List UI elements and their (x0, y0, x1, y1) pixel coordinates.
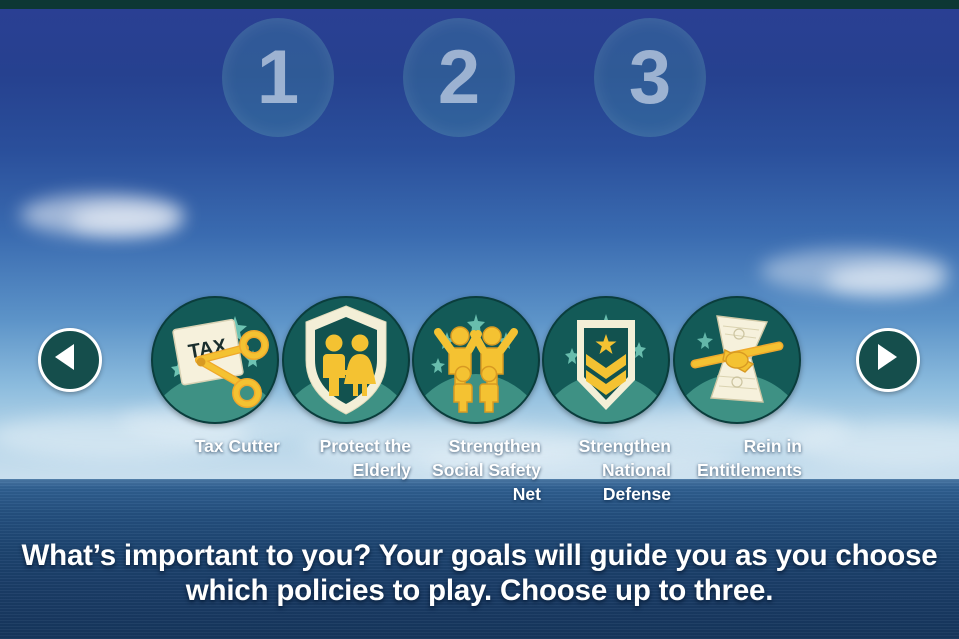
goal-card-tax-cutter[interactable]: TAX T (150, 296, 280, 458)
cloud (20, 194, 185, 236)
carousel-next-button[interactable] (856, 328, 920, 392)
arrow-right-icon (859, 331, 911, 383)
tax-scissors-icon: TAX (153, 298, 277, 422)
goal-slot-1[interactable]: 1 (222, 18, 334, 137)
game-screen: 1 2 3 (0, 0, 959, 639)
goal-card-rein-in-entitlements[interactable]: Rein in Entitlements (672, 296, 802, 482)
shield-elderly-icon (284, 298, 408, 422)
goal-badge (412, 296, 540, 424)
goal-label: Protect the Elderly (281, 434, 411, 482)
goal-slot-3-number: 3 (629, 40, 671, 116)
cloud (70, 205, 180, 235)
instruction-caption: What’s important to you? Your goals will… (0, 538, 959, 609)
goal-card-strengthen-national-defense[interactable]: Strengthen National Defense (541, 296, 671, 506)
carousel-prev-button[interactable] (38, 328, 102, 392)
military-chevron-icon (544, 298, 668, 422)
goal-badge (673, 296, 801, 424)
goal-slot-2-number: 2 (438, 40, 480, 116)
goal-badge (282, 296, 410, 424)
goal-slots: 1 2 3 (0, 18, 959, 143)
goal-slot-1-number: 1 (257, 40, 299, 116)
cloud (760, 249, 950, 293)
goal-card-strengthen-social-safety-net[interactable]: Strengthen Social Safety Net (411, 296, 541, 506)
goal-carousel: TAX T (0, 296, 959, 526)
goal-label: Strengthen Social Safety Net (411, 434, 541, 506)
goal-label: Strengthen National Defense (541, 434, 671, 506)
instruction-line-1: What’s important to you? Your goals will… (0, 538, 959, 573)
family-icon (414, 298, 538, 422)
cinched-money-icon (675, 298, 799, 422)
goal-card-protect-the-elderly[interactable]: Protect the Elderly (281, 296, 411, 482)
instruction-line-2: which policies to play. Choose up to thr… (0, 573, 959, 608)
goal-badge (542, 296, 670, 424)
goal-slot-2[interactable]: 2 (403, 18, 515, 137)
arrow-left-icon (41, 331, 93, 383)
goal-label: Tax Cutter (150, 434, 280, 458)
goal-badge: TAX (151, 296, 279, 424)
goal-label: Rein in Entitlements (672, 434, 802, 482)
cloud (826, 264, 946, 296)
top-bar (0, 0, 959, 9)
goal-slot-3[interactable]: 3 (594, 18, 706, 137)
